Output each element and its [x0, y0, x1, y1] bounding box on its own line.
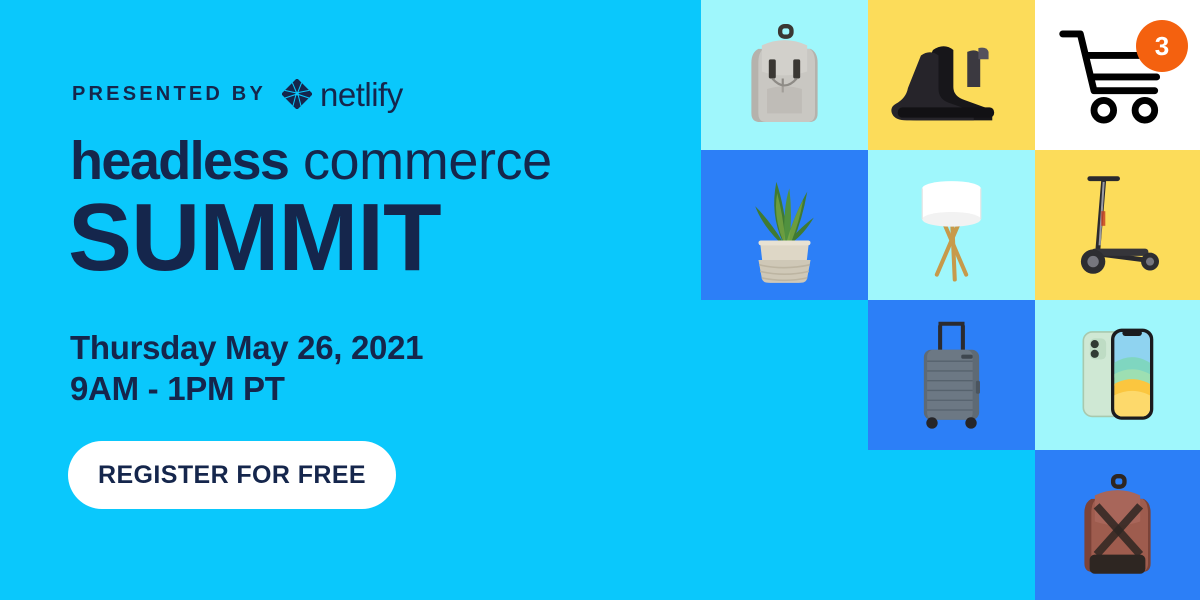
netlify-diamond-icon	[282, 79, 312, 109]
netlify-logo-lockup: netlify	[282, 78, 403, 111]
register-for-free-button[interactable]: REGISTER FOR FREE	[68, 441, 396, 509]
headline-bold-word: headless	[70, 131, 288, 191]
product-tile-snake-plant[interactable]	[701, 150, 868, 300]
suitcase-icon	[868, 300, 1035, 450]
netlify-wordmark: netlify	[320, 78, 403, 111]
product-tile-rolling-suitcase[interactable]	[868, 300, 1035, 450]
product-tile-backpack-brown[interactable]	[1035, 450, 1200, 600]
left-content-panel: PRESENTED BY	[0, 0, 701, 600]
potted-plant-icon	[701, 150, 868, 300]
product-image-grid: 3	[701, 0, 1200, 600]
headline-line-2: SUMMIT	[68, 190, 441, 286]
boot-icon	[868, 0, 1035, 150]
event-time: 9AM - 1PM PT	[70, 372, 285, 405]
product-tile-backpack-grey[interactable]	[701, 0, 868, 150]
headline-line-1: headless commerce	[70, 134, 552, 188]
product-tile-chelsea-boots[interactable]	[868, 0, 1035, 150]
promo-banner: PRESENTED BY	[0, 0, 1200, 600]
product-tile-electric-scooter[interactable]	[1035, 150, 1200, 300]
cart-count-badge: 3	[1136, 20, 1188, 72]
register-button-label: REGISTER FOR FREE	[98, 461, 366, 490]
event-date: Thursday May 26, 2021	[70, 331, 423, 364]
presented-by-row: PRESENTED BY	[72, 77, 403, 111]
backpack-icon	[701, 0, 868, 150]
shopping-cart-icon	[1035, 0, 1200, 150]
headline-light-word: commerce	[288, 131, 551, 191]
product-tile-tripod-lamp[interactable]	[868, 150, 1035, 300]
product-tile-smartphone-green[interactable]	[1035, 300, 1200, 450]
presented-by-label: PRESENTED BY	[72, 84, 266, 104]
product-tile-shopping-cart[interactable]: 3	[1035, 0, 1200, 150]
table-lamp-icon	[868, 150, 1035, 300]
scooter-icon	[1035, 150, 1200, 300]
smartphone-icon	[1035, 300, 1200, 450]
backpack-icon	[1035, 450, 1200, 600]
